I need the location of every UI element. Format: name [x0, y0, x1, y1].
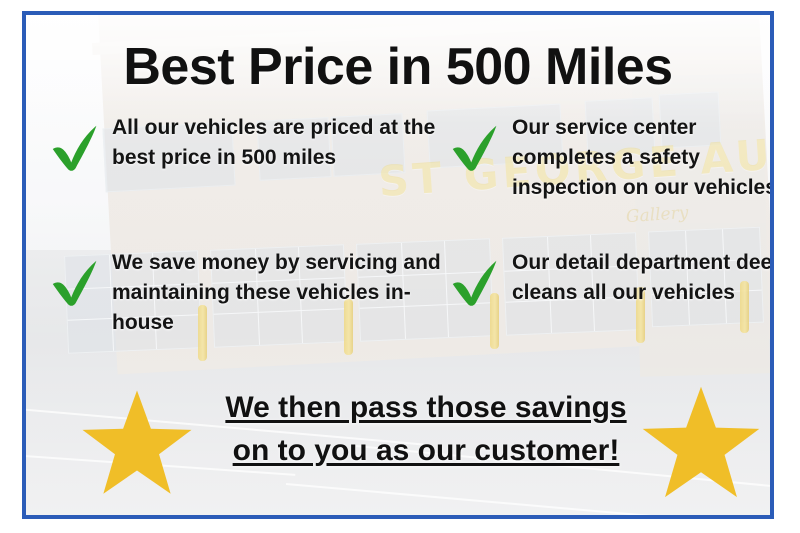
- benefits-list: All our vehicles are priced at the best …: [46, 111, 774, 366]
- green-checkmark-icon: [46, 117, 108, 179]
- star-icon: [638, 383, 764, 507]
- poster-frame: ST GEORGE AUTO Gallery: [22, 11, 774, 519]
- green-checkmark-icon: [446, 252, 508, 314]
- list-item: We save money by servicing and maintaini…: [46, 246, 446, 366]
- list-item-label: Our service center completes a safety in…: [512, 111, 774, 202]
- matte-top: [0, 0, 800, 11]
- poster-content: Best Price in 500 Miles: [26, 15, 770, 515]
- matte-right: [774, 0, 800, 533]
- page-title: Best Price in 500 Miles: [26, 37, 770, 97]
- star-icon: [78, 387, 196, 503]
- green-checkmark-icon: [446, 117, 508, 179]
- green-checkmark-icon: [46, 252, 108, 314]
- list-item: Our detail department deep cleans all ou…: [446, 246, 774, 366]
- list-item-label: All our vehicles are priced at the best …: [112, 111, 442, 173]
- promotional-poster: ST GEORGE AUTO Gallery: [0, 0, 800, 533]
- matte-left: [0, 0, 22, 533]
- call-to-action-text: We then pass those savings on to you as …: [206, 387, 646, 472]
- list-item-label: Our detail department deep cleans all ou…: [512, 246, 774, 308]
- matte-bottom: [0, 519, 800, 533]
- list-item: All our vehicles are priced at the best …: [46, 111, 446, 246]
- list-item-label: We save money by servicing and maintaini…: [112, 246, 442, 337]
- list-item: Our service center completes a safety in…: [446, 111, 774, 246]
